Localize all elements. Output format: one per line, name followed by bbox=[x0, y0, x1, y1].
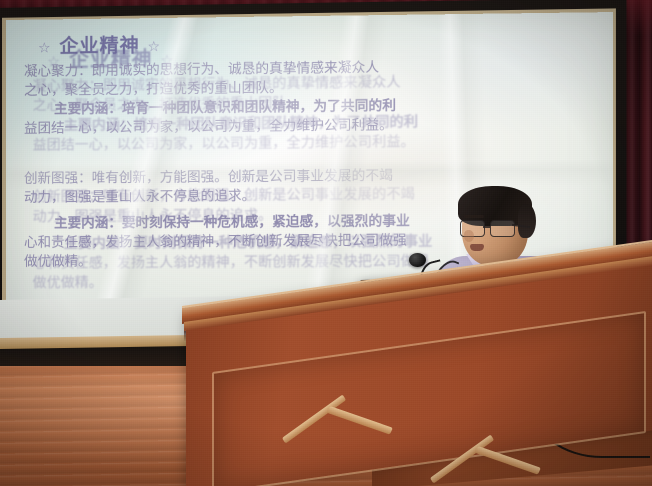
slide-line: 创新图强：唯有创新，方能图强。创新是公司事业发展的不竭 bbox=[24, 165, 596, 189]
slide-line-ghost: 凝心聚力：即用诚实的思想行为、诚恳的真挚情感来凝众人 bbox=[33, 70, 613, 97]
slide-line: 益团结一心，以公司为家，以公司为重，全力维护公司利益。 bbox=[24, 115, 596, 140]
lecture-hall-photo: ☆ 企业精神 ☆ 凝心聚力：即用诚实的思想行为、诚恳的真挚情感来凝众人 之心，聚… bbox=[0, 0, 652, 486]
glasses-right-lens bbox=[490, 220, 515, 237]
slide-title-text: 企业精神 bbox=[59, 34, 139, 57]
speaker-mouth bbox=[470, 244, 484, 251]
slide-line-ghost: 益团结一心，以公司为家，以公司为重，全力维护公司利益。 bbox=[33, 131, 613, 156]
star-icon-left: ☆ bbox=[38, 40, 52, 56]
star-icon-left-ghost: ☆ bbox=[47, 54, 61, 71]
star-icon-right-ghost: ☆ bbox=[160, 53, 174, 70]
slide-line-ghost: 之心，聚全员之力，打造优秀的重山团队。 bbox=[33, 91, 613, 117]
slide-title-text-ghost: 企业精神 bbox=[69, 48, 152, 72]
slide-title: ☆ 企业精神 ☆ bbox=[38, 27, 596, 61]
slide-line: 主要内涵：培育一种团队意识和团队精神，为了共同的利 bbox=[24, 95, 596, 120]
speaker-eyebrow bbox=[464, 215, 484, 218]
glasses-bridge bbox=[483, 226, 490, 228]
slide-title-ghost: ☆ 企业精神 ☆ bbox=[47, 40, 613, 75]
speaker-nose bbox=[464, 230, 474, 242]
star-icon-right: ☆ bbox=[147, 39, 161, 55]
slide-line-ghost: 主要内涵：培育一种团队意识和团队精神，为了共同的利 bbox=[33, 111, 613, 137]
slide-line: 之心，聚全员之力，打造优秀的重山团队。 bbox=[24, 76, 596, 102]
microphone-icon bbox=[409, 253, 426, 267]
slide-line: 凝心聚力：即用诚实的思想行为、诚恳的真挚情感来凝众人 bbox=[24, 56, 596, 82]
